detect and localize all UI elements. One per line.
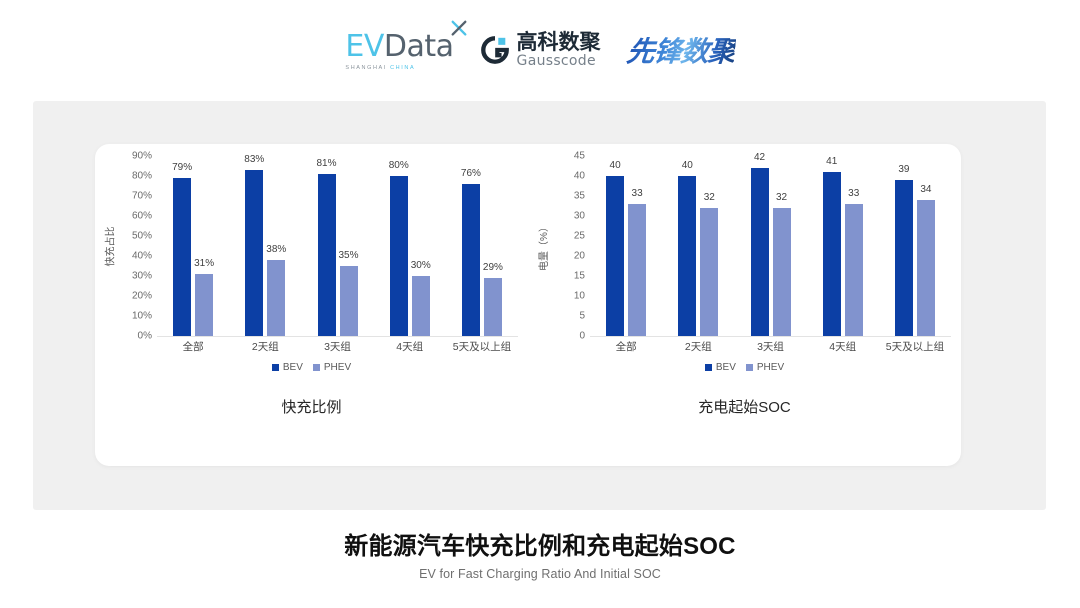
- logo-bar: EV Data SHANGHAI CHINA 高科数聚 Gausscode 先锋…: [0, 22, 1080, 78]
- y-tick-label: 20%: [132, 291, 152, 302]
- chart-legend: BEVPHEV: [528, 362, 961, 373]
- bar-value-label: 31%: [194, 258, 214, 269]
- plot-area: 79%31%83%38%81%35%80%30%76%29%: [157, 156, 518, 337]
- legend-swatch-icon: [313, 364, 320, 371]
- xianfeng-logo: 先锋数聚: [624, 30, 736, 70]
- y-tick-label: 25: [574, 231, 585, 242]
- x-axis-tick-label: 3天组: [301, 339, 373, 354]
- bar-phev[interactable]: 38%: [267, 260, 285, 336]
- bar-value-label: 79%: [172, 162, 192, 173]
- bar-phev[interactable]: 31%: [195, 274, 213, 336]
- evdata-wordmark: EV Data: [345, 29, 453, 64]
- gausscode-wordmark: 高科数聚 Gausscode: [517, 32, 601, 68]
- y-axis-ticks: 90%80%70%60%50%40%30%20%10%0%: [115, 156, 155, 336]
- y-tick-label: 5: [579, 311, 585, 322]
- x-axis-labels: 全部2天组3天组4天组5天及以上组: [590, 339, 951, 354]
- bar-bev[interactable]: 79%: [173, 178, 191, 336]
- bar-value-label: 40: [682, 160, 693, 171]
- bar-bev[interactable]: 39: [895, 180, 913, 336]
- bar-bev[interactable]: 40: [606, 176, 624, 336]
- bar-value-label: 32: [704, 192, 715, 203]
- bar-bev[interactable]: 80%: [390, 176, 408, 336]
- x-axis-tick-label: 4天组: [807, 339, 879, 354]
- page-title: 新能源汽车快充比例和充电起始SOC: [0, 533, 1080, 561]
- evdata-tagline: SHANGHAI CHINA: [345, 65, 415, 71]
- bar-value-label: 41: [826, 156, 837, 167]
- bar-phev[interactable]: 34: [917, 200, 935, 336]
- plot-area-wrapper: 电量（%）45403530252015105040334032423241333…: [528, 156, 961, 366]
- y-tick-label: 45: [574, 151, 585, 162]
- chart-caption: 快充比例: [95, 396, 528, 417]
- bar-phev[interactable]: 35%: [340, 266, 358, 336]
- y-tick-label: 15: [574, 271, 585, 282]
- bar-value-label: 34: [920, 184, 931, 195]
- charts-row: 快充占比90%80%70%60%50%40%30%20%10%0%79%31%8…: [95, 144, 961, 466]
- bar-value-label: 83%: [244, 154, 264, 165]
- x-axis-tick-label: 2天组: [662, 339, 734, 354]
- bar-value-label: 42: [754, 152, 765, 163]
- bar-value-label: 81%: [316, 158, 336, 169]
- charts-card: 快充占比90%80%70%60%50%40%30%20%10%0%79%31%8…: [95, 144, 961, 466]
- bar-phev[interactable]: 32: [700, 208, 718, 336]
- evdata-logo: EV Data SHANGHAI CHINA: [345, 29, 453, 71]
- bar-bev[interactable]: 83%: [245, 170, 263, 336]
- bar-group: 4033: [590, 156, 662, 336]
- bar-phev[interactable]: 32: [773, 208, 791, 336]
- evdata-tagline-country: CHINA: [390, 65, 415, 71]
- y-tick-label: 60%: [132, 211, 152, 222]
- x-axis-tick-label: 5天及以上组: [446, 339, 518, 354]
- chart-fast-charging-ratio: 快充占比90%80%70%60%50%40%30%20%10%0%79%31%8…: [95, 144, 528, 466]
- bar-value-label: 32: [776, 192, 787, 203]
- plot-area: 40334032423241333934: [590, 156, 951, 337]
- x-axis-tick-label: 全部: [590, 339, 662, 354]
- gausscode-logo: 高科数聚 Gausscode: [480, 32, 601, 68]
- bar-value-label: 76%: [461, 168, 481, 179]
- y-tick-label: 0: [579, 331, 585, 342]
- x-axis-tick-label: 5天及以上组: [879, 339, 951, 354]
- y-tick-label: 80%: [132, 171, 152, 182]
- bar-value-label: 30%: [411, 260, 431, 271]
- bar-group: 79%31%: [157, 156, 229, 336]
- y-tick-label: 90%: [132, 151, 152, 162]
- bar-bev[interactable]: 42: [751, 168, 769, 336]
- bar-bev[interactable]: 76%: [462, 184, 480, 336]
- bar-value-label: 33: [848, 188, 859, 199]
- y-tick-label: 50%: [132, 231, 152, 242]
- legend-swatch-icon: [705, 364, 712, 371]
- x-cross-icon: [450, 20, 468, 38]
- legend-item-bev[interactable]: BEV: [705, 362, 736, 373]
- gausscode-cn-text: 高科数聚: [517, 32, 601, 53]
- legend-label: PHEV: [324, 362, 351, 373]
- bar-group: 4032: [662, 156, 734, 336]
- bar-value-label: 80%: [389, 160, 409, 171]
- page-subtitle: EV for Fast Charging Ratio And Initial S…: [0, 567, 1080, 581]
- bar-value-label: 39: [898, 164, 909, 175]
- bar-bev[interactable]: 40: [678, 176, 696, 336]
- footer-titles: 新能源汽车快充比例和充电起始SOC EV for Fast Charging R…: [0, 533, 1080, 581]
- x-axis-tick-label: 2天组: [229, 339, 301, 354]
- chart-caption: 充电起始SOC: [528, 396, 961, 417]
- bar-phev[interactable]: 29%: [484, 278, 502, 336]
- y-tick-label: 10: [574, 291, 585, 302]
- bar-value-label: 29%: [483, 262, 503, 273]
- y-tick-label: 20: [574, 251, 585, 262]
- bar-phev[interactable]: 33: [628, 204, 646, 336]
- plot-area-wrapper: 快充占比90%80%70%60%50%40%30%20%10%0%79%31%8…: [95, 156, 528, 366]
- bar-group: 3934: [879, 156, 951, 336]
- bar-group: 81%35%: [301, 156, 373, 336]
- bar-group: 4133: [807, 156, 879, 336]
- y-tick-label: 30: [574, 211, 585, 222]
- evdata-ev-text: EV: [345, 29, 383, 64]
- x-axis-tick-label: 全部: [157, 339, 229, 354]
- legend-swatch-icon: [272, 364, 279, 371]
- evdata-data-text: Data: [384, 29, 454, 64]
- y-tick-label: 40%: [132, 251, 152, 262]
- bar-value-label: 33: [632, 188, 643, 199]
- x-axis-labels: 全部2天组3天组4天组5天及以上组: [157, 339, 518, 354]
- g-circle-icon: [480, 35, 510, 65]
- gausscode-en-text: Gausscode: [517, 54, 601, 68]
- legend-swatch-icon: [746, 364, 753, 371]
- x-axis-tick-label: 3天组: [734, 339, 806, 354]
- y-tick-label: 0%: [138, 331, 152, 342]
- y-tick-label: 30%: [132, 271, 152, 282]
- bar-bev[interactable]: 81%: [318, 174, 336, 336]
- legend-label: PHEV: [757, 362, 784, 373]
- y-tick-label: 40: [574, 171, 585, 182]
- y-tick-label: 70%: [132, 191, 152, 202]
- legend-item-phev[interactable]: PHEV: [746, 362, 784, 373]
- legend-label: BEV: [283, 362, 303, 373]
- chart-legend: BEVPHEV: [95, 362, 528, 373]
- bar-group: 83%38%: [229, 156, 301, 336]
- bar-phev[interactable]: 33: [845, 204, 863, 336]
- y-tick-label: 35: [574, 191, 585, 202]
- bar-value-label: 35%: [338, 250, 358, 261]
- bar-phev[interactable]: 30%: [412, 276, 430, 336]
- y-axis-ticks: 454035302520151050: [548, 156, 588, 336]
- bar-group: 76%29%: [446, 156, 518, 336]
- bar-group: 80%30%: [374, 156, 446, 336]
- bar-group: 4232: [734, 156, 806, 336]
- chart-initial-soc: 电量（%）45403530252015105040334032423241333…: [528, 144, 961, 466]
- evdata-tagline-city: SHANGHAI: [345, 65, 387, 71]
- legend-item-bev[interactable]: BEV: [272, 362, 303, 373]
- x-axis-tick-label: 4天组: [374, 339, 446, 354]
- bar-value-label: 38%: [266, 244, 286, 255]
- bar-bev[interactable]: 41: [823, 172, 841, 336]
- y-tick-label: 10%: [132, 311, 152, 322]
- legend-label: BEV: [716, 362, 736, 373]
- bar-value-label: 40: [610, 160, 621, 171]
- legend-item-phev[interactable]: PHEV: [313, 362, 351, 373]
